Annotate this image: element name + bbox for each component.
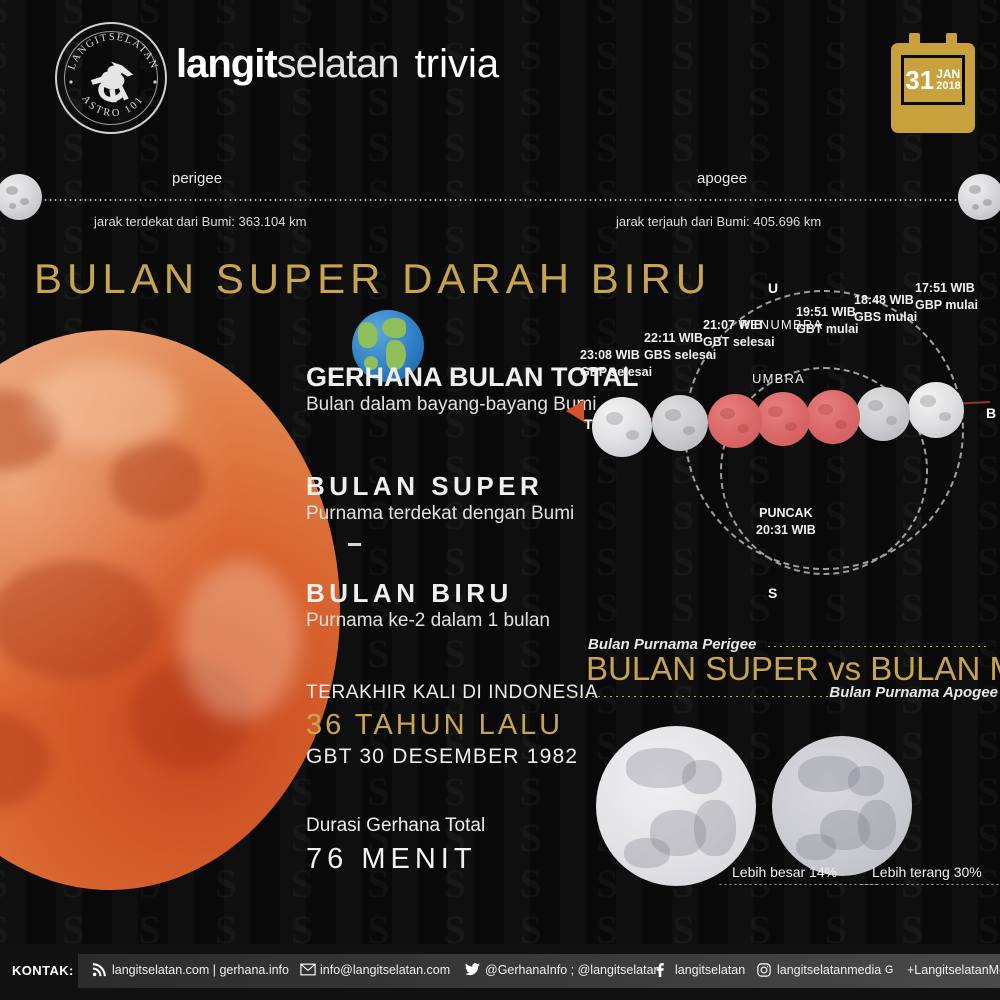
phase-label-gbt-selesai: 21:07 WIB GBT selesai: [703, 317, 775, 351]
eclipse-moon-gbt-selesai: [708, 394, 762, 448]
feature-title: BULAN SUPER: [306, 473, 574, 500]
svg-text:G: G: [885, 964, 893, 976]
perigee-value: jarak terdekat dari Bumi: 363.104 km: [94, 214, 306, 229]
phase-time: 17:51 WIB: [915, 281, 975, 295]
super-vs-mini-section: Bulan Purnama Perigee BULAN SUPER vs BUL…: [560, 636, 1000, 896]
eclipse-direction-arrow: [566, 400, 584, 422]
cardinal-u: U: [768, 280, 778, 296]
caption-rule-left: [718, 884, 878, 885]
calendar-month: JAN: [936, 68, 960, 81]
footer-item-text: langitselatanmedia: [777, 963, 881, 977]
peak-label: PUNCAK 20:31 WIB: [756, 505, 816, 539]
supermoon-illustration: [596, 726, 756, 886]
calendar-day: 31: [905, 67, 934, 93]
eclipse-moon-gbs-mulai: [856, 387, 910, 441]
footer-item-text: langitselatan: [675, 963, 745, 977]
feature-subtitle: Purnama terdekat dengan Bumi: [306, 503, 574, 525]
feature-title: BULAN BIRU: [306, 580, 550, 607]
footer-item-website[interactable]: langitselatan.com | gerhana.info: [92, 963, 289, 977]
brand-title: langitselatantrivia: [176, 44, 499, 84]
calendar-year: 2018: [936, 81, 960, 93]
caption-lebih-terang: Lebih terang 30%: [872, 864, 982, 880]
footer-item-text: +LangitselatanMedia: [907, 963, 1000, 977]
phase-label-gbs-mulai: 18:48 WIB GBS mulai: [854, 292, 917, 326]
footer-item-twitter[interactable]: @GerhanaInfo ; @langitselatan: [465, 963, 660, 977]
eclipse-moon-gbp-selesai: [592, 397, 652, 457]
apogee-label: apogee: [697, 170, 747, 187]
eclipse-path-diagram: U S T B PENUMBRA UMBRA: [560, 272, 1000, 617]
duration-value: 76 MENIT: [306, 843, 485, 876]
cardinal-s: S: [768, 585, 777, 601]
duration-label: Durasi Gerhana Total: [306, 815, 485, 837]
instagram-icon: [757, 963, 771, 977]
duration-block: Durasi Gerhana Total 76 MENIT: [306, 815, 485, 876]
orbit-distance-bar: perigee jarak terdekat dari Bumi: 363.10…: [0, 152, 1000, 248]
heading-rule-top: [766, 646, 990, 647]
caption-lebih-besar: Lebih besar 14%: [732, 864, 837, 880]
phase-time: 18:48 WIB: [854, 293, 914, 307]
phase-event: GBT mulai: [796, 322, 859, 336]
footer-item-text: @GerhanaInfo ; @langitselatan: [485, 963, 660, 977]
eclipse-moon-puncak: [756, 392, 810, 446]
phase-time: 19:51 WIB: [796, 305, 856, 319]
facebook-icon: [655, 963, 669, 977]
phase-time: 21:07 WIB: [703, 318, 763, 332]
blood-moon-illustration: [0, 330, 340, 890]
peak-text: PUNCAK: [759, 506, 812, 520]
mail-icon: [300, 963, 314, 977]
last-occurrence-block: TERAKHIR KALI DI INDONESIA 36 TAHUN LALU…: [306, 682, 598, 769]
footer-item-facebook[interactable]: langitselatan: [655, 963, 745, 977]
phase-label-gbp-mulai: 17:51 WIB GBP mulai: [915, 280, 978, 314]
last-occurrence-label: TERAKHIR KALI DI INDONESIA: [306, 682, 598, 704]
perigee-moon-icon: [0, 174, 42, 220]
eclipse-moon-gbp-mulai: [908, 382, 964, 438]
calendar-icon: 31 JAN 2018: [891, 33, 975, 133]
cardinal-b: B: [986, 405, 996, 421]
footer-kontak-label: KONTAK:: [12, 963, 74, 978]
header: LANGITSELATAN ASTRO 101 la: [0, 0, 1000, 150]
phase-time: 23:08 WIB: [580, 348, 640, 362]
phase-time: 22:11 WIB: [644, 331, 703, 345]
perigee-label: perigee: [172, 170, 222, 187]
phase-label-gbp-selesai: 23:08 WIB GBP selesai: [580, 347, 652, 381]
umbra-label: UMBRA: [752, 371, 805, 386]
googleplus-icon: G: [885, 963, 901, 977]
last-occurrence-years: 36 TAHUN LALU: [306, 709, 598, 742]
comparison-heading: BULAN SUPER vs BULAN MINI: [586, 650, 1000, 688]
minimoon-illustration: [772, 736, 912, 876]
feature-bulan-super: BULAN SUPER Purnama terdekat dengan Bumi: [306, 473, 574, 525]
infographic-root: S S S S S S S S S S S S S S S S S S S S …: [0, 0, 1000, 1000]
twitter-icon: [465, 963, 479, 977]
feature-divider-dash: [348, 543, 361, 546]
heading-rule-bottom: [560, 696, 830, 697]
apogee-moon-icon: [958, 174, 1000, 220]
footer-item-instagram[interactable]: langitselatanmedia: [757, 963, 881, 977]
footer-contact-bar: KONTAK: langitselatan.com | gerhana.info…: [0, 944, 1000, 1000]
feature-bulan-biru: BULAN BIRU Purnama ke-2 dalam 1 bulan: [306, 580, 550, 632]
phase-event: GBT selesai: [703, 335, 775, 349]
phase-event: GBS mulai: [854, 310, 917, 324]
footer-item-text: langitselatan.com | gerhana.info: [112, 963, 289, 977]
caption-rule-right: [860, 884, 1000, 885]
eclipse-moon-gbt-mulai: [806, 390, 860, 444]
footer-item-googleplus[interactable]: G +LangitselatanMedia: [885, 963, 1000, 977]
orbit-dotted-line: [18, 199, 982, 201]
footer-item-text: info@langitselatan.com: [320, 963, 450, 977]
phase-label-gbt-mulai: 19:51 WIB GBT mulai: [796, 304, 859, 338]
peak-time: 20:31 WIB: [756, 523, 816, 537]
apogee-value: jarak terjauh dari Bumi: 405.696 km: [616, 214, 821, 229]
svg-text:LANGITSELATAN: LANGITSELATAN: [66, 32, 159, 71]
feature-subtitle: Purnama ke-2 dalam 1 bulan: [306, 610, 550, 632]
last-occurrence-date: GBT 30 DESEMBER 1982: [306, 745, 598, 769]
brand-part-trivia: trivia: [415, 42, 499, 86]
langitselatan-logo: LANGITSELATAN ASTRO 101: [55, 22, 167, 134]
comparison-kicker-right: Bulan Purnama Apogee: [829, 684, 998, 701]
brand-part-selatan: selatan: [277, 42, 399, 86]
eclipse-moon-gbs-selesai: [652, 395, 708, 451]
footer-item-email[interactable]: info@langitselatan.com: [300, 963, 450, 977]
rss-icon: [92, 963, 106, 977]
brand-part-langit: langit: [176, 42, 277, 86]
phase-event: GBP selesai: [580, 365, 652, 379]
phase-event: GBP mulai: [915, 298, 978, 312]
